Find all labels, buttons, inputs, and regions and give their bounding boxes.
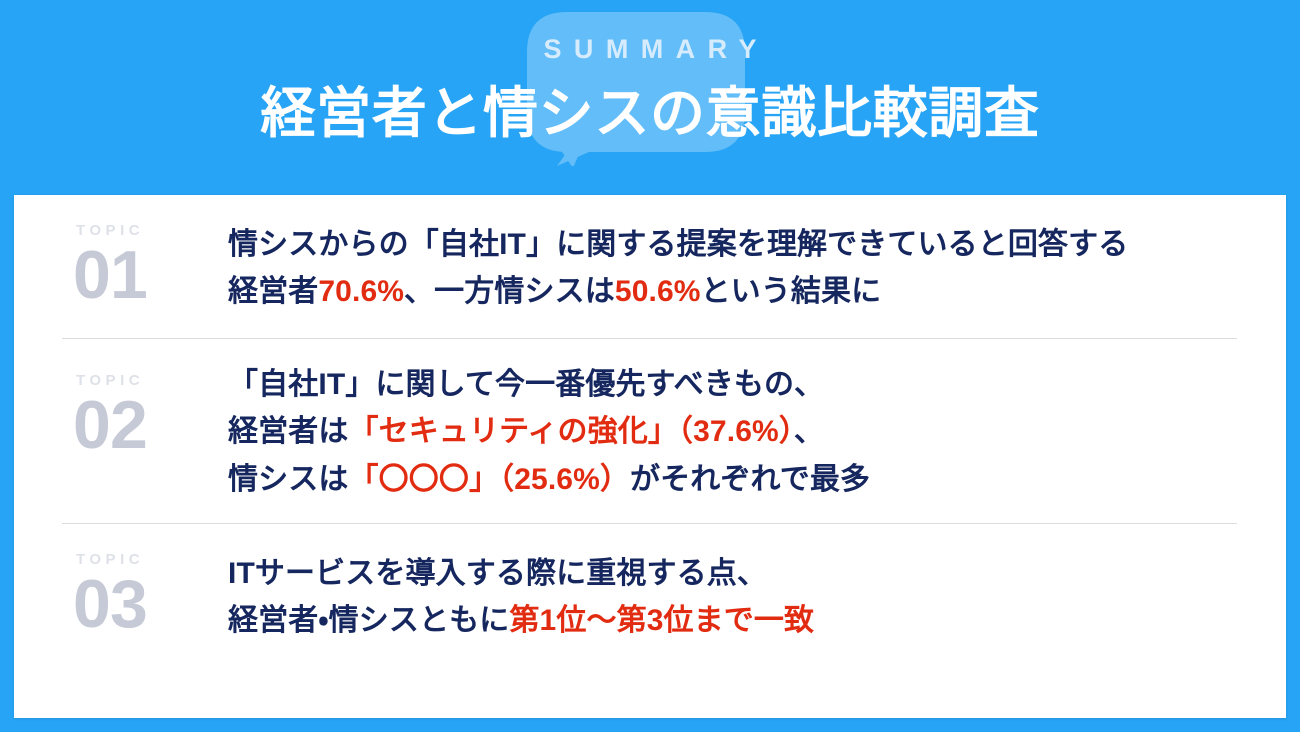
topic-body: ITサービスを導入する際に重視する点、経営者・情シスともに第1位〜第3位まで一致 <box>228 546 1238 645</box>
topic-marker: TOPIC02 <box>62 361 228 459</box>
topic-label: TOPIC <box>73 373 228 388</box>
page-title: 経営者と情シスの意識比較調査 <box>0 63 1300 146</box>
topic-label: TOPIC <box>73 223 228 238</box>
summary-slide: SUMMARY 経営者と情シスの意識比較調査 TOPIC01情シスからの「自社I… <box>0 0 1300 732</box>
topics-list: TOPIC01情シスからの「自社IT」に関する提案を理解できていると回答する経営… <box>62 195 1238 667</box>
body-text: ITサービスを導入する際に重視する点、 <box>228 557 767 590</box>
topic-text-line: 情シスは「〇〇〇」（25.6%）がそれぞれで最多 <box>228 456 1238 503</box>
header-text-block: SUMMARY 経営者と情シスの意識比較調査 <box>0 0 1300 146</box>
topics-card: TOPIC01情シスからの「自社IT」に関する提案を理解できていると回答する経営… <box>14 195 1286 718</box>
highlight-text: 50.6% <box>615 275 701 308</box>
topic-body: 情シスからの「自社IT」に関する提案を理解できていると回答する経営者70.6%、… <box>228 219 1238 316</box>
topic-number: 03 <box>73 567 228 638</box>
body-text: 経営者・情シスともに <box>228 604 509 637</box>
highlight-text: 70.6% <box>318 275 404 308</box>
eyebrow-label: SUMMARY <box>0 0 1300 63</box>
topic-number: 01 <box>73 238 228 309</box>
body-text: 、一方情シスは <box>404 275 615 308</box>
highlight-text: 「〇〇〇」（25.6%） <box>348 463 630 496</box>
body-text: がそれぞれで最多 <box>630 463 870 496</box>
highlight-text: 第1位〜第3位まで一致 <box>509 604 814 637</box>
topic-row: TOPIC03ITサービスを導入する際に重視する点、経営者・情シスともに第1位〜… <box>62 524 1238 667</box>
topic-text-line: 情シスからの「自社IT」に関する提案を理解できていると回答する <box>228 221 1238 268</box>
body-text: 、 <box>794 415 824 448</box>
body-text: 経営者は <box>228 415 348 448</box>
highlight-text: 「セキュリティの強化」（37.6%） <box>348 415 793 448</box>
body-text: という結果に <box>701 275 882 308</box>
topic-row: TOPIC02「自社IT」に関して今一番優先すべきもの、経営者は「セキュリティの… <box>62 339 1238 523</box>
body-text: 情シスは <box>228 463 348 496</box>
body-text: 情シスからの「自社IT」に関する提案を理解できていると回答する <box>228 228 1128 261</box>
topic-text-line: 経営者70.6%、一方情シスは50.6%という結果に <box>228 268 1238 315</box>
topic-text-line: 経営者・情シスともに第1位〜第3位まで一致 <box>228 597 1238 644</box>
slide-header: SUMMARY 経営者と情シスの意識比較調査 <box>0 0 1300 188</box>
topic-body: 「自社IT」に関して今一番優先すべきもの、経営者は「セキュリティの強化」（37.… <box>228 361 1238 503</box>
topic-text-line: 「自社IT」に関して今一番優先すべきもの、 <box>228 361 1238 408</box>
topic-marker: TOPIC01 <box>62 219 228 309</box>
topic-text-line: ITサービスを導入する際に重視する点、 <box>228 550 1238 597</box>
body-text: 「自社IT」に関して今一番優先すべきもの、 <box>228 368 824 401</box>
topic-label: TOPIC <box>73 552 228 567</box>
topic-marker: TOPIC03 <box>62 546 228 638</box>
topic-row: TOPIC01情シスからの「自社IT」に関する提案を理解できていると回答する経営… <box>62 195 1238 338</box>
topic-number: 02 <box>73 388 228 459</box>
topic-text-line: 経営者は「セキュリティの強化」（37.6%）、 <box>228 408 1238 455</box>
body-text: 経営者 <box>228 275 318 308</box>
